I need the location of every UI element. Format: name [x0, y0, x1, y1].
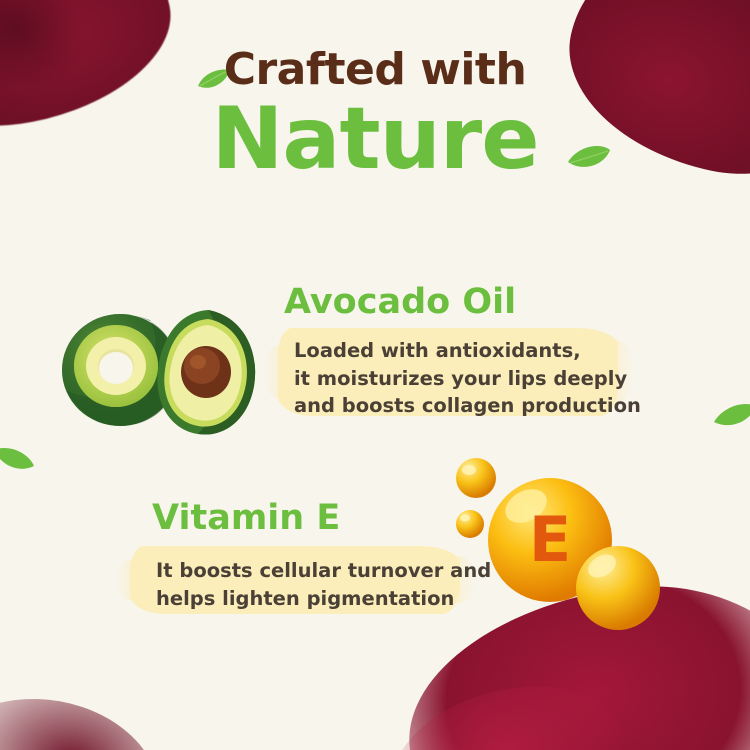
leaf-icon-left — [0, 444, 36, 476]
ingredient-description-line: It boosts cellular turnover and — [156, 557, 550, 585]
ingredient-description-line: helps lighten pigmentation — [156, 585, 550, 613]
ingredient-description-line: it moisturizes your lips deeply — [294, 365, 684, 393]
headline-line-1: Crafted with — [0, 48, 750, 92]
ingredient-block-avocado: Avocado Oil Loaded with antioxidants, it… — [284, 282, 684, 420]
ingredient-description-line: and boosts collagen production — [294, 392, 684, 420]
ingredient-description-line: Loaded with antioxidants, — [294, 337, 684, 365]
ingredient-description-vitamin-e: It boosts cellular turnover and helps li… — [130, 550, 550, 612]
ingredient-title-vitamin-e: Vitamin E — [130, 498, 550, 538]
product-ingredient-poster: Crafted with Nature — [0, 0, 750, 750]
headline-block: Crafted with Nature — [0, 48, 750, 184]
ingredient-title-avocado: Avocado Oil — [284, 282, 684, 322]
avocado-halves-illustration — [58, 292, 268, 442]
headline-line-2: Nature — [0, 94, 750, 184]
ingredient-block-vitamin-e: Vitamin E It boosts cellular turnover an… — [130, 498, 550, 620]
lipstick-smear-bottom-left — [0, 681, 173, 750]
leaf-icon-mid-right — [712, 402, 750, 434]
lipstick-smear-bottom-right-accent — [375, 663, 644, 750]
ingredient-description-avocado: Loaded with antioxidants, it moisturizes… — [284, 330, 684, 420]
